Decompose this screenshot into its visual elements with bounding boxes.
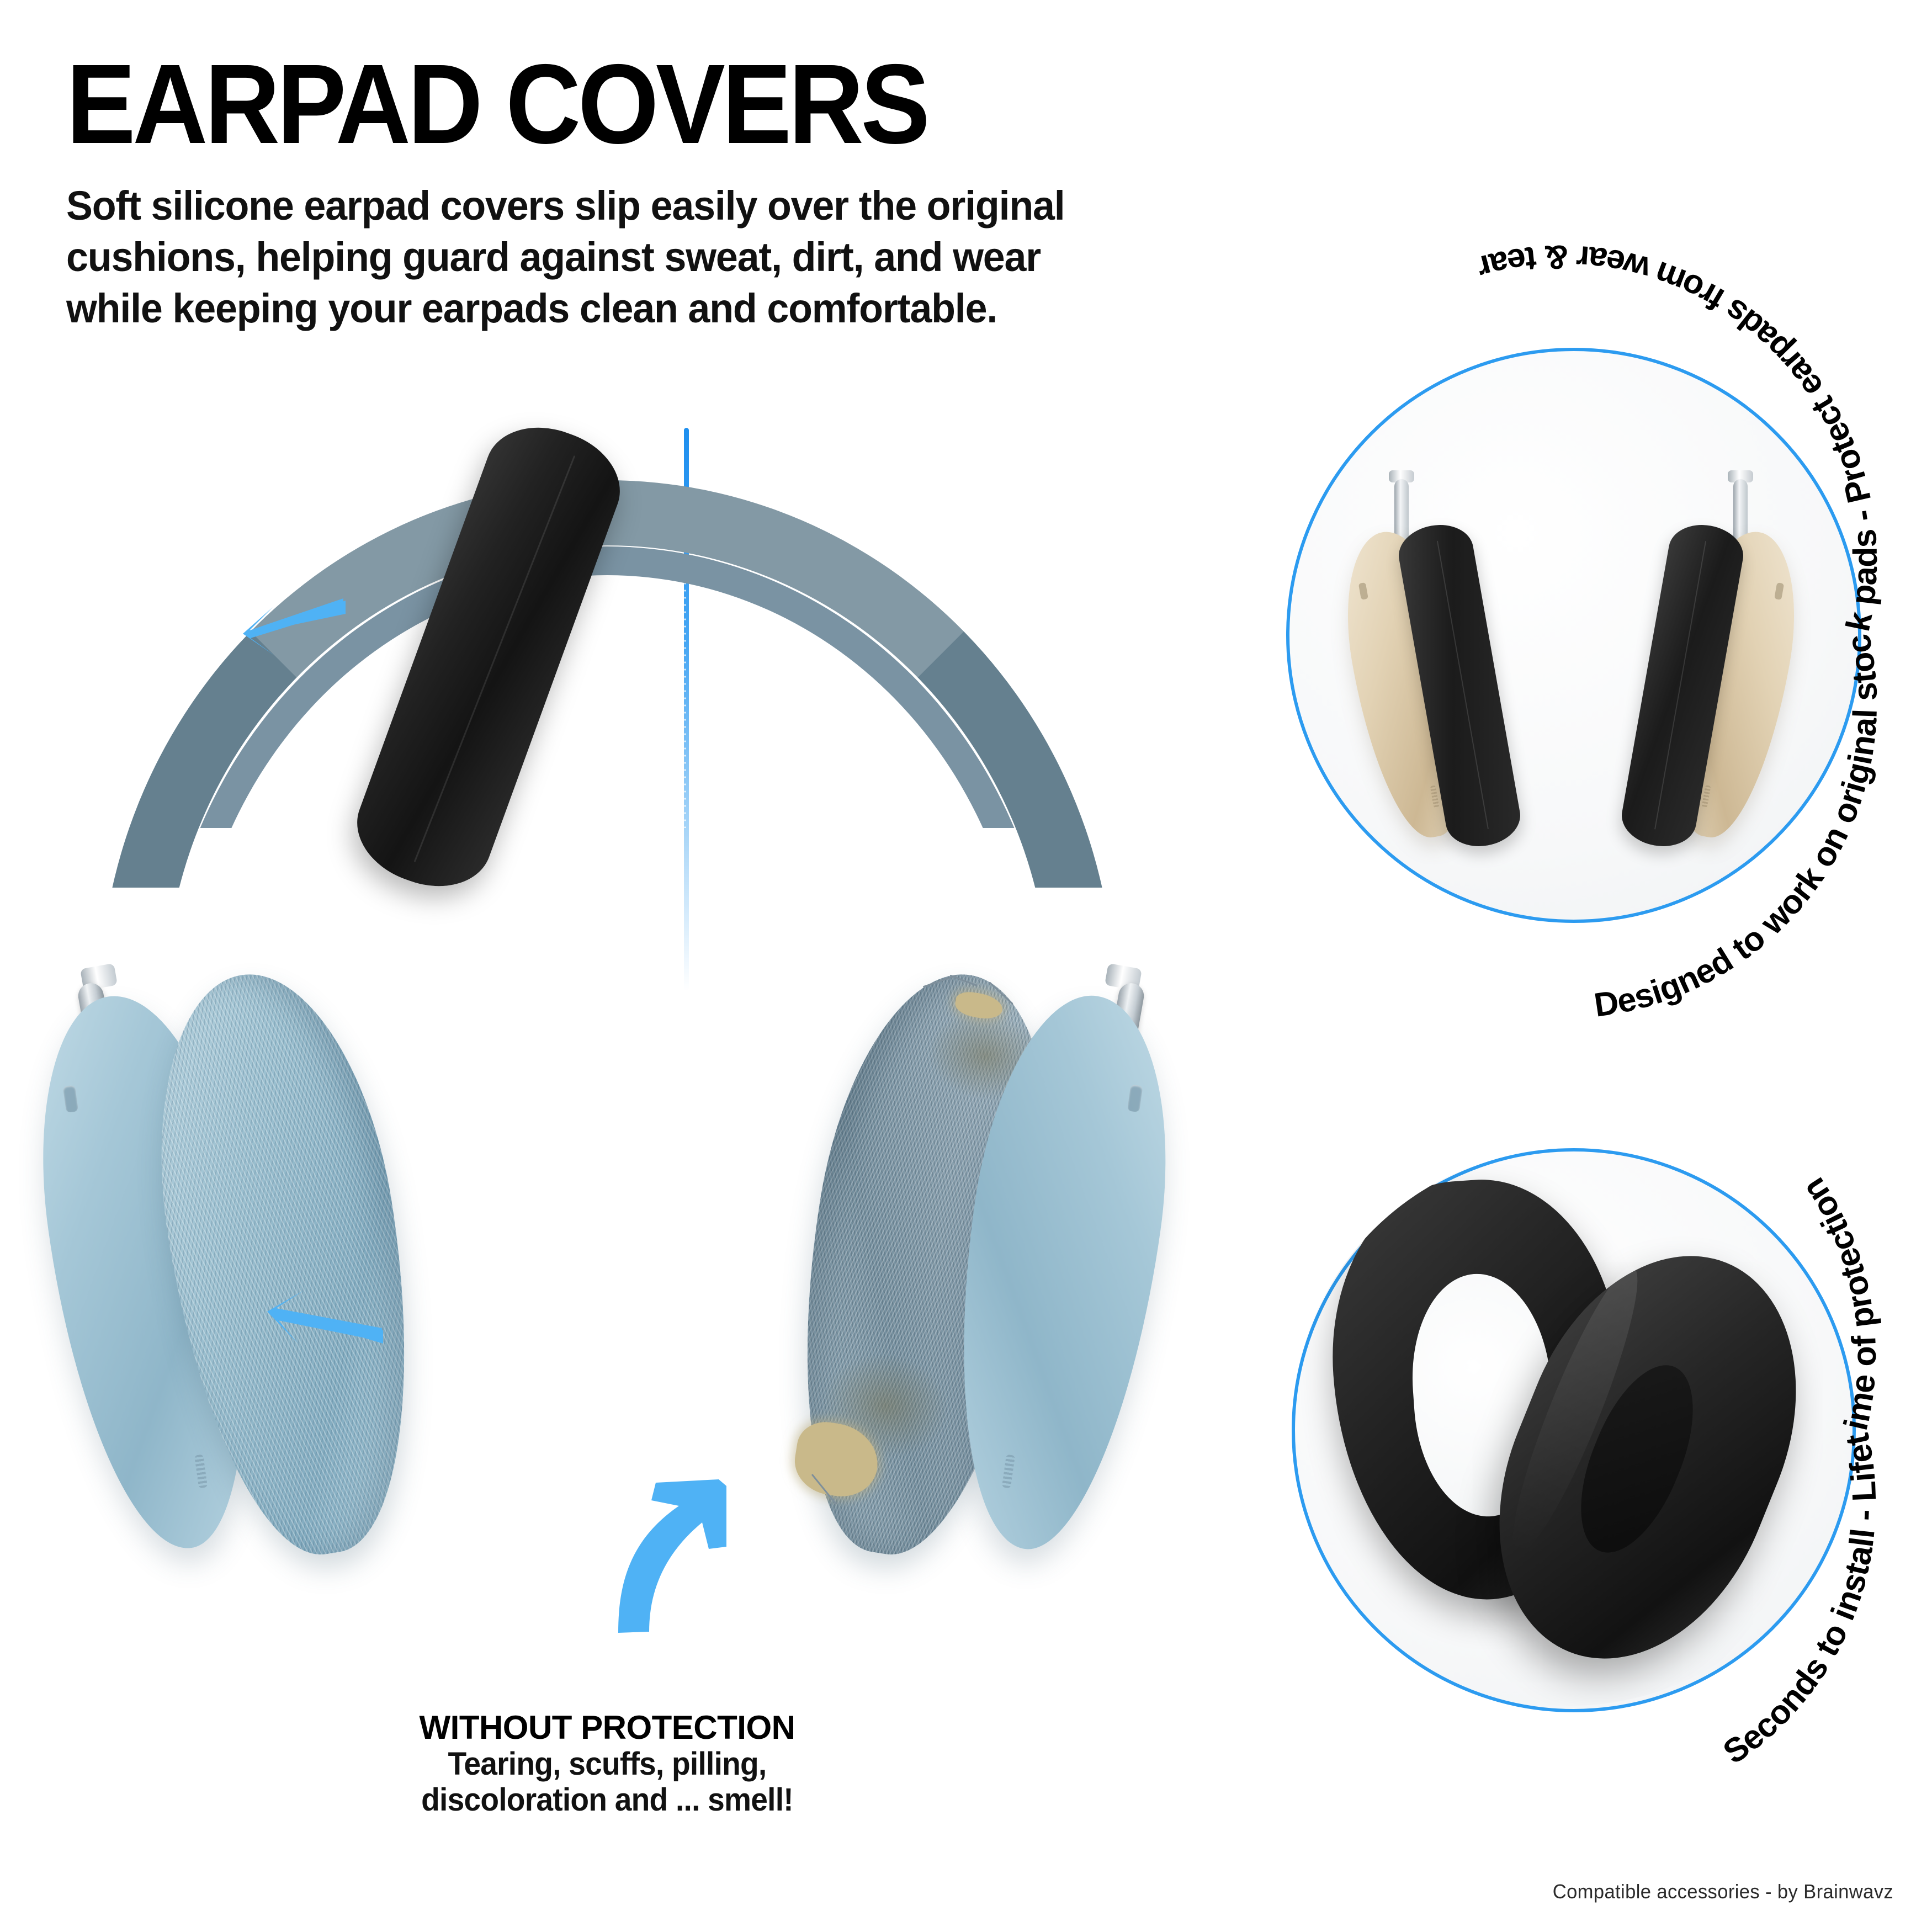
caption-heading: WITHOUT PROTECTION: [166, 1708, 1049, 1747]
subtitle-line-2: cushions, helping guard against sweat, d…: [66, 231, 1218, 283]
left-cup-slot: [63, 1085, 78, 1113]
svg-text:Seconds to install - Lifetime: Seconds to install - Lifetime of protect…: [1716, 1172, 1883, 1771]
footer-credit: Compatible accessories - by Brainwavz: [1553, 1880, 1893, 1903]
header-block: EARPAD COVERS Soft silicone earpad cover…: [66, 52, 1253, 334]
callout-bottom-right-curved-text: Seconds to install - Lifetime of protect…: [1214, 1115, 1910, 1833]
caption-line-2: discoloration and ... smell!: [188, 1782, 1027, 1818]
page-subtitle: Soft silicone earpad covers slip easily …: [66, 180, 1218, 335]
page-title: EARPAD COVERS: [66, 52, 1158, 157]
callout-top-right: Designed to work on original stock pads …: [1214, 331, 1910, 1027]
without-protection-caption: WITHOUT PROTECTION Tearing, scuffs, pill…: [166, 1708, 1049, 1818]
subtitle-line-1: Soft silicone earpad covers slip easily …: [66, 180, 1218, 231]
right-cup-slot: [1127, 1085, 1143, 1113]
worn-fray-2: [949, 974, 977, 986]
arrow-to-left-pad-top-icon: [215, 591, 348, 673]
main-headphone-illustration: [33, 408, 1203, 1662]
callout-top-right-text: Designed to work on original stock pads …: [1474, 238, 1885, 1024]
arrow-to-left-pad-bottom-icon: [243, 1275, 386, 1363]
callout-top-right-curved-text: Designed to work on original stock pads …: [1214, 331, 1910, 1027]
callout-bottom-right: Seconds to install - Lifetime of protect…: [1214, 1115, 1910, 1833]
arrow-to-worn-pad-icon: [596, 1457, 767, 1639]
callout-bottom-right-text: Seconds to install - Lifetime of protect…: [1716, 1172, 1883, 1771]
right-cup-vent: [1002, 1455, 1015, 1489]
subtitle-line-3: while keeping your earpads clean and com…: [66, 283, 1218, 334]
left-cup-vent: [194, 1455, 208, 1489]
caption-line-1: Tearing, scuffs, pilling,: [188, 1747, 1027, 1782]
svg-text:Designed to work on original s: Designed to work on original stock pads …: [1474, 238, 1885, 1024]
